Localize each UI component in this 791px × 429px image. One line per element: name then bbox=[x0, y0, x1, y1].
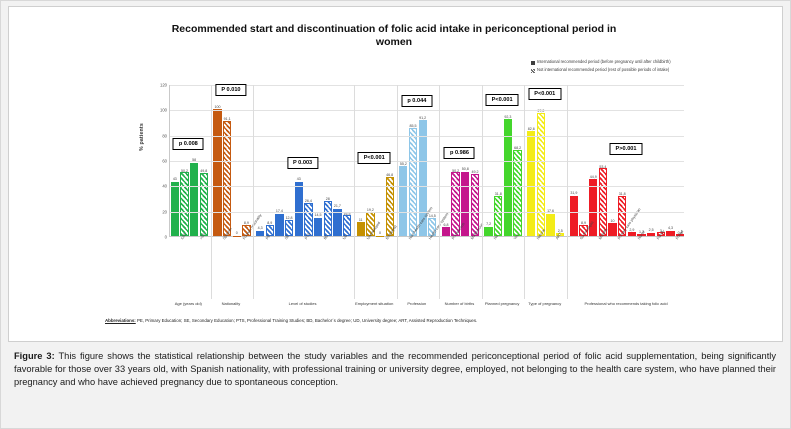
figure-image-card: Recommended start and discontinuation of… bbox=[8, 6, 783, 342]
y-axis-tick-label: 40 bbox=[162, 184, 167, 189]
bar-value-label: 91,1 bbox=[224, 117, 231, 121]
p-value-box: P>0.001 bbox=[610, 143, 643, 155]
bar-value-label: 91,2 bbox=[419, 116, 426, 120]
group-separator bbox=[482, 85, 483, 299]
p-value-box: P 0.010 bbox=[215, 84, 246, 96]
bar: 53,4 bbox=[599, 168, 607, 236]
p-value-box: P 0.003 bbox=[287, 157, 318, 169]
bar-value-label: 28 bbox=[326, 197, 330, 201]
legend-swatch-solid-icon bbox=[531, 61, 535, 65]
bar: 31,8 bbox=[494, 196, 502, 236]
bar: 10 bbox=[608, 223, 616, 236]
abbreviations-text: PE, Primary Education; SE, Secondary Edu… bbox=[136, 318, 478, 323]
bar-value-label: 50,2 bbox=[181, 169, 188, 173]
figure-page: Recommended start and discontinuation of… bbox=[0, 0, 791, 429]
bar-value-label: 2,9 bbox=[629, 228, 634, 232]
bar-value-label: 8,9 bbox=[267, 221, 272, 225]
bar-value-label: 53,4 bbox=[599, 165, 606, 169]
p-value-box: P<0.001 bbox=[358, 152, 391, 164]
bar: 17,4 bbox=[275, 214, 283, 236]
p-value-box: p 0.008 bbox=[173, 138, 204, 150]
group-label: Number of births bbox=[440, 301, 479, 306]
group-separator bbox=[211, 85, 212, 299]
chart-title: Recommended start and discontinuation of… bbox=[159, 23, 629, 49]
group-separator bbox=[567, 85, 568, 299]
bar: 50,2 bbox=[180, 172, 188, 236]
bar: 85,5 bbox=[409, 128, 417, 236]
bar-value-label: 46,8 bbox=[386, 173, 393, 177]
bar-value-label: 8,9 bbox=[581, 221, 586, 225]
bar-value-label: 26,4 bbox=[305, 199, 312, 203]
p-value-box: P<0.001 bbox=[528, 88, 561, 100]
y-axis-tick-label: 120 bbox=[160, 83, 167, 88]
x-axis-category-label: BD bbox=[323, 234, 329, 240]
group-label: Professional who recommends taking folic… bbox=[568, 301, 684, 306]
y-axis-tick-label: 100 bbox=[160, 108, 167, 113]
legend-label-international: International recommended period (before… bbox=[537, 59, 671, 64]
gridline bbox=[170, 85, 684, 86]
bar-value-label: 43 bbox=[297, 177, 301, 181]
gridline bbox=[170, 186, 684, 187]
bar-value-label: 14,5 bbox=[429, 214, 436, 218]
gridline bbox=[170, 212, 684, 213]
bar: 82,6 bbox=[527, 131, 535, 236]
group-label: Planned pregnancy bbox=[483, 301, 522, 306]
group-label: Nationality bbox=[212, 301, 251, 306]
bar-value-label: 43 bbox=[173, 177, 177, 181]
group-separator bbox=[354, 85, 355, 299]
legend-item-not-international: Not international recommended period (re… bbox=[531, 67, 681, 73]
legend-item-international: International recommended period (before… bbox=[531, 59, 681, 65]
bar: 49,8 bbox=[200, 173, 208, 236]
bar-value-label: 0 bbox=[379, 231, 381, 235]
bar: 43 bbox=[171, 182, 179, 236]
p-value-box: p 0.044 bbox=[401, 95, 432, 107]
y-axis-tick-label: 80 bbox=[162, 133, 167, 138]
bar: 6,8 bbox=[442, 227, 450, 236]
group-label: Age (years old) bbox=[169, 301, 208, 306]
bar: 100 bbox=[213, 109, 221, 236]
chart-canvas: Recommended start and discontinuation of… bbox=[99, 11, 699, 341]
bar-value-label: 49,8 bbox=[200, 169, 207, 173]
figure-caption-text: This figure shows the statistical relati… bbox=[14, 351, 776, 387]
y-axis-tick-label: 60 bbox=[162, 159, 167, 164]
bar: 14,5 bbox=[314, 218, 322, 236]
bar-value-label: 4,3 bbox=[668, 226, 673, 230]
group-separator bbox=[524, 85, 525, 299]
bar-value-label: 0 bbox=[236, 231, 238, 235]
group-separator bbox=[439, 85, 440, 299]
bar: 28 bbox=[324, 201, 332, 236]
group-label: Employment situation bbox=[355, 301, 394, 306]
bar: 4,3 bbox=[256, 231, 264, 236]
bar-value-label: 50,2 bbox=[452, 169, 459, 173]
bar-value-label: 6,8 bbox=[443, 223, 448, 227]
bar-value-label: 55,2 bbox=[400, 162, 407, 166]
figure-caption: Figure 3: This figure shows the statisti… bbox=[14, 350, 776, 390]
bar-value-label: 31,8 bbox=[495, 192, 502, 196]
bar: 58 bbox=[190, 163, 198, 236]
y-axis-tick-label: 0 bbox=[165, 235, 167, 240]
group-separator bbox=[397, 85, 398, 299]
x-axis-category-label: PE bbox=[265, 234, 271, 240]
bar: 91,1 bbox=[223, 121, 231, 236]
bar: 2,5 bbox=[647, 233, 655, 236]
abbreviations-note: Abbreviations: PE, Primary Education; SE… bbox=[105, 318, 689, 324]
bar-value-label: 4,3 bbox=[258, 226, 263, 230]
chart-legend: International recommended period (before… bbox=[531, 59, 681, 75]
group-label: Level of studies bbox=[254, 301, 351, 306]
bar: 31,9 bbox=[570, 196, 578, 236]
bar: 7,2 bbox=[484, 227, 492, 236]
bar-value-label: 82,6 bbox=[528, 127, 535, 131]
bar-value-label: 68,2 bbox=[514, 146, 521, 150]
group-label: Profession bbox=[398, 301, 437, 306]
y-axis-title: % patients bbox=[139, 123, 145, 151]
bar: 43 bbox=[295, 182, 303, 236]
bar-value-label: 10 bbox=[611, 219, 615, 223]
bar: 11 bbox=[357, 222, 365, 236]
bar: 55,2 bbox=[399, 166, 407, 236]
y-axis-tick-label: 20 bbox=[162, 209, 167, 214]
x-axis-category-label: UD bbox=[342, 234, 348, 241]
group-separator bbox=[253, 85, 254, 299]
plot-area: 4350,25849,8≤33>3310091,108,9SpanishFore… bbox=[169, 85, 684, 237]
bar: 26,4 bbox=[304, 203, 312, 236]
bar-value-label: 50,8 bbox=[462, 167, 469, 171]
bar-value-label: 44,9 bbox=[590, 175, 597, 179]
bar-value-label: 49,2 bbox=[471, 170, 478, 174]
bar-value-label: 92,3 bbox=[504, 115, 511, 119]
bar-value-label: 100 bbox=[214, 105, 220, 109]
group-label: Type of pregnancy bbox=[525, 301, 564, 306]
bar-value-label: 8,9 bbox=[244, 221, 249, 225]
x-axis-category-label: SE bbox=[284, 234, 290, 240]
abbreviations-label: Abbreviations: bbox=[105, 318, 136, 323]
bar-value-label: 31,9 bbox=[570, 191, 577, 195]
bar-value-label: 11 bbox=[359, 218, 363, 222]
bar-value-label: 2,5 bbox=[649, 228, 654, 232]
p-value-box: P<0.001 bbox=[486, 94, 519, 106]
gridline bbox=[170, 110, 684, 111]
bar: 97,2 bbox=[537, 113, 545, 236]
p-value-box: p 0.986 bbox=[444, 147, 475, 159]
bar-value-label: 85,5 bbox=[409, 124, 416, 128]
legend-label-not-international: Not international recommended period (re… bbox=[537, 67, 669, 72]
bar: 2,9 bbox=[628, 232, 636, 236]
gridline bbox=[170, 161, 684, 162]
bar-value-label: 7,2 bbox=[486, 222, 491, 226]
bar: 68,2 bbox=[513, 150, 521, 236]
bar: 17,6 bbox=[546, 214, 554, 236]
gridline bbox=[170, 136, 684, 137]
bar-value-label: 31,8 bbox=[619, 192, 626, 196]
bar-value-label: 14,5 bbox=[315, 213, 322, 217]
figure-number: Figure 3: bbox=[14, 351, 55, 361]
bar-value-label: 21,7 bbox=[334, 204, 341, 208]
bar: 4,3 bbox=[666, 231, 674, 236]
legend-swatch-hatched-icon bbox=[531, 69, 535, 73]
bar-value-label: 12,8 bbox=[286, 216, 293, 220]
